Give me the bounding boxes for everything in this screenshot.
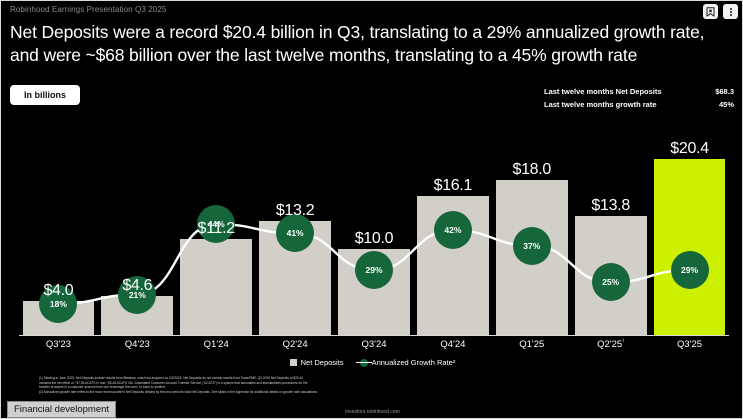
net-deposits-chart: $4.018%$4.621%$11.244%$13.241%$10.029%$1… [19, 121, 729, 336]
legend-item-growth-rate: Annualized Growth Rate² [360, 358, 456, 367]
x-axis-label: Q3'24 [335, 339, 414, 350]
x-axis-line [19, 335, 729, 336]
menu-dot [730, 14, 732, 16]
bar-q325 [654, 159, 726, 336]
x-axis-label: Q1'25 [492, 339, 571, 350]
x-axis-label: Q2'25¹ [571, 339, 650, 350]
viewer-top-bar: Robinhood Earnings Presentation Q3 2025 [1, 1, 743, 21]
presentation-slide: Robinhood Earnings Presentation Q3 2025 … [0, 0, 743, 419]
bar-value-label: $13.2 [259, 202, 331, 220]
legend-item-net-deposits: Net Deposits [290, 358, 344, 367]
x-axis-label: Q4'23 [98, 339, 177, 350]
x-axis-label: Q3'25 [650, 339, 729, 350]
x-axis-labels: Q3'23Q4'23Q1'24Q2'24Q3'24Q4'24Q1'25Q2'25… [19, 339, 729, 353]
document-title: Robinhood Earnings Presentation Q3 2025 [10, 5, 166, 14]
bar-value-label: $4.0 [23, 282, 95, 300]
bar-value-label: $13.8 [575, 197, 647, 215]
legend-swatch-circle-icon [360, 359, 368, 367]
bar-value-label: $11.2 [180, 220, 252, 238]
bar-value-label: $18.0 [496, 161, 568, 179]
chart-legend: Net Deposits Annualized Growth Rate² [1, 358, 743, 367]
kpi-label: Last twelve months Net Deposits [544, 85, 662, 98]
bar-value-label: $20.4 [654, 140, 726, 158]
bookmark-glyph [706, 7, 715, 17]
kpi-row: Last twelve months Net Deposits $68.3 [544, 85, 734, 98]
growth-rate-node: 25% [592, 263, 630, 301]
growth-rate-node: 29% [355, 251, 393, 289]
kpi-value: 45% [719, 98, 734, 111]
x-axis-label: Q3'23 [19, 339, 98, 350]
bar-value-label: $16.1 [417, 177, 489, 195]
menu-dot [730, 11, 732, 13]
footer-url: investors.robinhood.com [1, 409, 743, 415]
slide-headline: Net Deposits were a record $20.4 billion… [10, 21, 736, 67]
legend-label: Annualized Growth Rate² [372, 358, 456, 367]
x-axis-label: Q2'24 [256, 339, 335, 350]
footnotes: (1) Starting in June 2025, Net Deposits … [39, 376, 709, 394]
kpi-row: Last twelve months growth rate 45% [544, 98, 734, 111]
bar-value-label: $4.6 [101, 277, 173, 295]
bar-q124 [180, 239, 252, 336]
growth-rate-node: 37% [513, 227, 551, 265]
growth-rate-node: 42% [434, 211, 472, 249]
footnote-line: (2) Annualized growth rate refers to the… [39, 390, 709, 395]
legend-label: Net Deposits [301, 358, 344, 367]
kpi-value: $68.3 [715, 85, 734, 98]
legend-swatch-square-icon [290, 359, 297, 366]
growth-rate-node: 29% [671, 251, 709, 289]
x-axis-label: Q4'24 [413, 339, 492, 350]
menu-dot [730, 8, 732, 10]
kpi-summary: Last twelve months Net Deposits $68.3 La… [544, 85, 734, 111]
bar-value-label: $10.0 [338, 230, 410, 248]
units-badge: In billions [10, 85, 80, 105]
more-vertical-icon[interactable] [723, 4, 738, 19]
kpi-label: Last twelve months growth rate [544, 98, 657, 111]
bookmark-icon[interactable] [703, 4, 718, 19]
chart-plot-area: $4.018%$4.621%$11.244%$13.241%$10.029%$1… [19, 121, 729, 336]
x-axis-label: Q1'24 [177, 339, 256, 350]
